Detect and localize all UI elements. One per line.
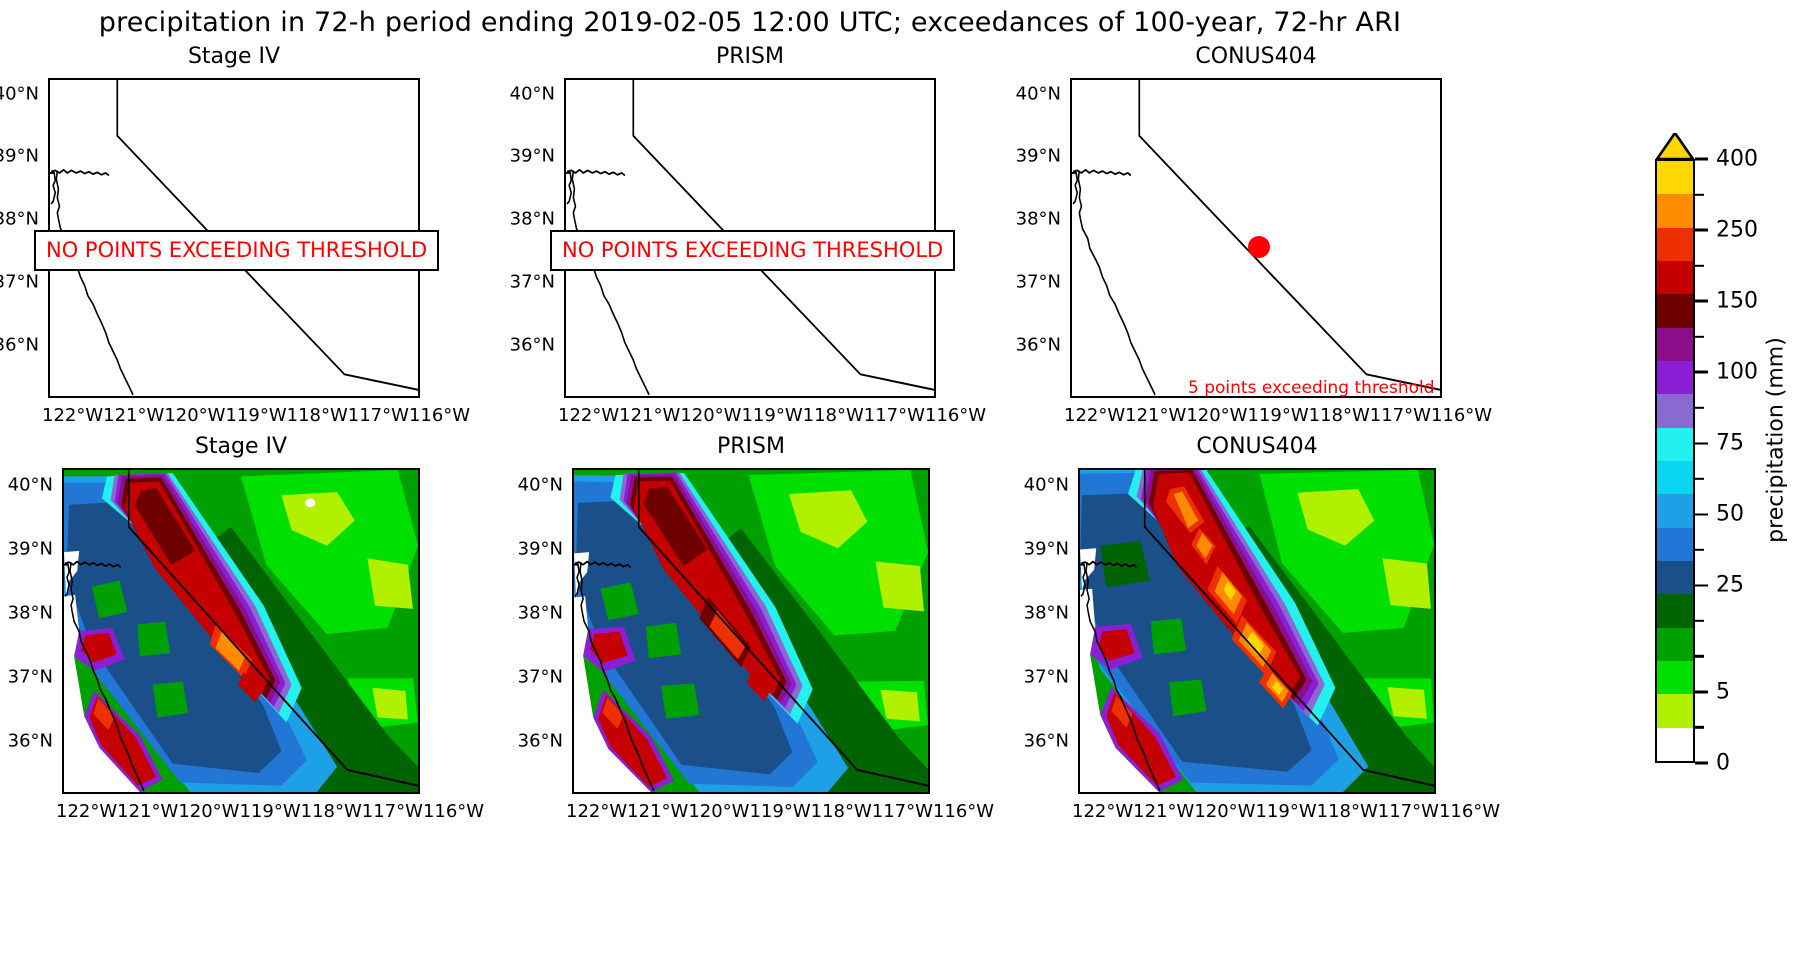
x-tick-label: 119°W — [239, 801, 300, 822]
x-tick-label: 118°W — [1309, 405, 1370, 426]
panel-title: PRISM — [564, 44, 936, 69]
colorbar-tick-minor — [1695, 726, 1704, 728]
panel-conus404-exceedance: CONUS404 40°N 39°N 38°N 37°N 36°N 122°W … — [1070, 78, 1442, 398]
x-tick-label: 116°W — [925, 405, 986, 426]
y-tick-label: 38°N — [1016, 209, 1061, 230]
y-tick-label: 37°N — [1016, 272, 1061, 293]
no-points-annotation: NO POINTS EXCEEDING THRESHOLD — [550, 230, 955, 271]
x-tick-label: 117°W — [362, 801, 423, 822]
x-tick-labels: 122°W 121°W 120°W 119°W 118°W 117°W 116°… — [566, 801, 936, 822]
panel-conus404-precip: CONUS404 — [1078, 468, 1436, 794]
y-tick-label: 38°N — [8, 603, 53, 624]
panel-prism-precip: PRISM — [572, 468, 930, 794]
colorbar-tick-minor — [1695, 264, 1704, 266]
colorbar-gradient — [1655, 159, 1695, 763]
panel-prism-exceedance: PRISM 40°N 39°N 38°N 37°N 36°N 122°W 121… — [564, 78, 936, 398]
x-tick-label: 121°W — [627, 801, 688, 822]
x-tick-label: 121°W — [1133, 801, 1194, 822]
x-tick-label: 116°W — [1431, 405, 1492, 426]
y-tick-label: 36°N — [510, 335, 555, 356]
y-tick-label: 40°N — [0, 84, 39, 105]
y-tick-label: 40°N — [510, 84, 555, 105]
colorbar-tick-label: 400 — [1716, 147, 1758, 172]
colorbar-segment — [1657, 661, 1693, 694]
y-tick-label: 38°N — [518, 603, 563, 624]
colorbar-tick-minor — [1695, 193, 1704, 195]
colorbar-segment — [1657, 228, 1693, 261]
x-tick-label: 116°W — [1439, 801, 1500, 822]
x-tick-label: 120°W — [1194, 801, 1255, 822]
colorbar-tick-minor — [1695, 478, 1704, 480]
x-tick-labels: 122°W 121°W 120°W 119°W 118°W 117°W 116°… — [42, 405, 426, 426]
y-tick-label: 38°N — [510, 209, 555, 230]
panel-title: Stage IV — [48, 44, 420, 69]
x-tick-label: 122°W — [42, 405, 103, 426]
colorbar-tick-major: 250 — [1695, 218, 1758, 243]
x-tick-label: 118°W — [1317, 801, 1378, 822]
panel-stage-iv-precip: Stage IV — [62, 468, 420, 794]
x-tick-label: 116°W — [933, 801, 994, 822]
x-tick-label: 122°W — [1064, 405, 1125, 426]
colorbar-tick-minor — [1695, 335, 1704, 337]
colorbar-tick-major: 0 — [1695, 751, 1730, 776]
y-tick-label: 37°N — [8, 667, 53, 688]
colorbar-tick-minor — [1695, 407, 1704, 409]
panel-stage-iv-exceedance: Stage IV 40°N 39°N 38°N 37°N 36°N 122°W … — [48, 78, 420, 398]
map-axes[interactable] — [1078, 468, 1436, 794]
y-tick-label: 39°N — [1024, 539, 1069, 560]
x-tick-label: 118°W — [803, 405, 864, 426]
x-tick-label: 120°W — [178, 801, 239, 822]
panel-title: Stage IV — [62, 434, 420, 459]
y-tick-label: 39°N — [8, 539, 53, 560]
colorbar-segment — [1657, 528, 1693, 561]
colorbar-tick-major: 400 — [1695, 147, 1758, 172]
x-tick-label: 121°W — [619, 405, 680, 426]
x-tick-label: 118°W — [287, 405, 348, 426]
colorbar-segment — [1657, 428, 1693, 461]
colorbar-segment — [1657, 628, 1693, 661]
y-tick-label: 37°N — [0, 272, 39, 293]
colorbar-segment — [1657, 461, 1693, 494]
x-tick-label: 117°W — [348, 405, 409, 426]
x-tick-label: 117°W — [864, 405, 925, 426]
figure-title: precipitation in 72-h period ending 2019… — [0, 6, 1500, 40]
y-tick-label: 37°N — [510, 272, 555, 293]
y-tick-label: 37°N — [518, 667, 563, 688]
colorbar-axis-label: precipitation (mm) — [1764, 337, 1789, 543]
x-tick-label: 122°W — [1072, 801, 1133, 822]
colorbar-tick-label: 100 — [1716, 360, 1758, 385]
contour-canvas — [1080, 470, 1434, 792]
x-tick-labels: 122°W 121°W 120°W 119°W 118°W 117°W 116°… — [1072, 801, 1442, 822]
x-tick-label: 122°W — [558, 405, 619, 426]
no-points-annotation: NO POINTS EXCEEDING THRESHOLD — [34, 230, 439, 271]
colorbar-tick-major: 100 — [1695, 360, 1758, 385]
x-tick-label: 116°W — [423, 801, 484, 822]
y-tick-label: 38°N — [1024, 603, 1069, 624]
x-tick-label: 117°W — [872, 801, 933, 822]
colorbar-tick-major: 150 — [1695, 289, 1758, 314]
panel-title: PRISM — [572, 434, 930, 459]
precip-contour-svg — [64, 470, 418, 792]
colorbar-tick-major: 25 — [1695, 573, 1744, 598]
colorbar-tick-minor — [1695, 549, 1704, 551]
y-tick-label: 36°N — [1016, 335, 1061, 356]
x-tick-label: 120°W — [688, 801, 749, 822]
y-tick-label: 36°N — [8, 731, 53, 752]
y-tick-label: 39°N — [510, 146, 555, 167]
exceedance-point-marker — [1248, 236, 1270, 258]
x-tick-label: 116°W — [409, 405, 470, 426]
figure-canvas: precipitation in 72-h period ending 2019… — [0, 0, 1815, 968]
contour-canvas — [574, 470, 928, 792]
y-tick-label: 36°N — [1024, 731, 1069, 752]
colorbar-tick-label: 150 — [1716, 289, 1758, 314]
x-tick-label: 119°W — [749, 801, 810, 822]
x-tick-labels: 122°W 121°W 120°W 119°W 118°W 117°W 116°… — [1064, 405, 1448, 426]
colorbar-tick-minor — [1695, 620, 1704, 622]
colorbar-tick-label: 5 — [1716, 679, 1730, 704]
panel-title: CONUS404 — [1070, 44, 1442, 69]
x-tick-label: 119°W — [1247, 405, 1308, 426]
precip-contour-svg — [1080, 470, 1434, 792]
precip-contour-svg — [574, 470, 928, 792]
x-tick-label: 118°W — [811, 801, 872, 822]
colorbar-segment — [1657, 561, 1693, 594]
x-tick-label: 119°W — [1255, 801, 1316, 822]
y-tick-label: 36°N — [0, 335, 39, 356]
x-tick-label: 118°W — [301, 801, 362, 822]
colorbar-tick-marks: 05255075100150250400 — [1695, 159, 1815, 763]
colorbar-tick-label: 0 — [1716, 751, 1730, 776]
y-tick-label: 36°N — [518, 731, 563, 752]
x-tick-label: 117°W — [1370, 405, 1431, 426]
colorbar-segment — [1657, 494, 1693, 527]
colorbar-segment — [1657, 294, 1693, 327]
colorbar-segment — [1657, 161, 1693, 194]
colorbar-segment — [1657, 361, 1693, 394]
x-tick-label: 120°W — [680, 405, 741, 426]
colorbar-tick-label: 75 — [1716, 431, 1744, 456]
y-tick-label: 38°N — [0, 209, 39, 230]
y-tick-label: 39°N — [518, 539, 563, 560]
colorbar-segment — [1657, 694, 1693, 727]
colorbar-extend-arrow-icon — [1655, 133, 1695, 159]
colorbar[interactable]: 05255075100150250400 — [1655, 133, 1815, 763]
colorbar-tick-label: 25 — [1716, 573, 1744, 598]
y-tick-label: 40°N — [1016, 84, 1061, 105]
x-tick-label: 120°W — [164, 405, 225, 426]
colorbar-tick-major: 75 — [1695, 431, 1744, 456]
colorbar-segment — [1657, 594, 1693, 627]
colorbar-tick-minor — [1695, 655, 1704, 657]
y-tick-label: 40°N — [8, 475, 53, 496]
x-tick-label: 122°W — [566, 801, 627, 822]
colorbar-segment — [1657, 261, 1693, 294]
colorbar-tick-major: 50 — [1695, 502, 1744, 527]
map-axes[interactable] — [572, 468, 930, 794]
x-tick-label: 121°W — [103, 405, 164, 426]
x-tick-label: 121°W — [1125, 405, 1186, 426]
colorbar-segment — [1657, 194, 1693, 227]
x-tick-label: 117°W — [1378, 801, 1439, 822]
y-tick-label: 40°N — [1024, 475, 1069, 496]
map-axes[interactable] — [1070, 78, 1442, 398]
x-tick-label: 121°W — [117, 801, 178, 822]
colorbar-tick-label: 50 — [1716, 502, 1744, 527]
y-tick-label: 40°N — [518, 475, 563, 496]
map-axes[interactable] — [62, 468, 420, 794]
x-tick-label: 120°W — [1186, 405, 1247, 426]
contour-canvas — [64, 470, 418, 792]
colorbar-segment — [1657, 394, 1693, 427]
x-tick-label: 119°W — [741, 405, 802, 426]
points-exceeding-annotation: 5 points exceeding threshold — [1188, 378, 1435, 398]
y-tick-label: 39°N — [1016, 146, 1061, 167]
panel-title: CONUS404 — [1078, 434, 1436, 459]
y-tick-label: 37°N — [1024, 667, 1069, 688]
colorbar-tick-label: 250 — [1716, 218, 1758, 243]
x-tick-label: 119°W — [225, 405, 286, 426]
x-tick-label: 122°W — [56, 801, 117, 822]
colorbar-segment — [1657, 328, 1693, 361]
x-tick-labels: 122°W 121°W 120°W 119°W 118°W 117°W 116°… — [558, 405, 942, 426]
y-tick-label: 39°N — [0, 146, 39, 167]
x-tick-labels: 122°W 121°W 120°W 119°W 118°W 117°W 116°… — [56, 801, 426, 822]
colorbar-segment — [1657, 728, 1693, 761]
colorbar-tick-major: 5 — [1695, 679, 1730, 704]
